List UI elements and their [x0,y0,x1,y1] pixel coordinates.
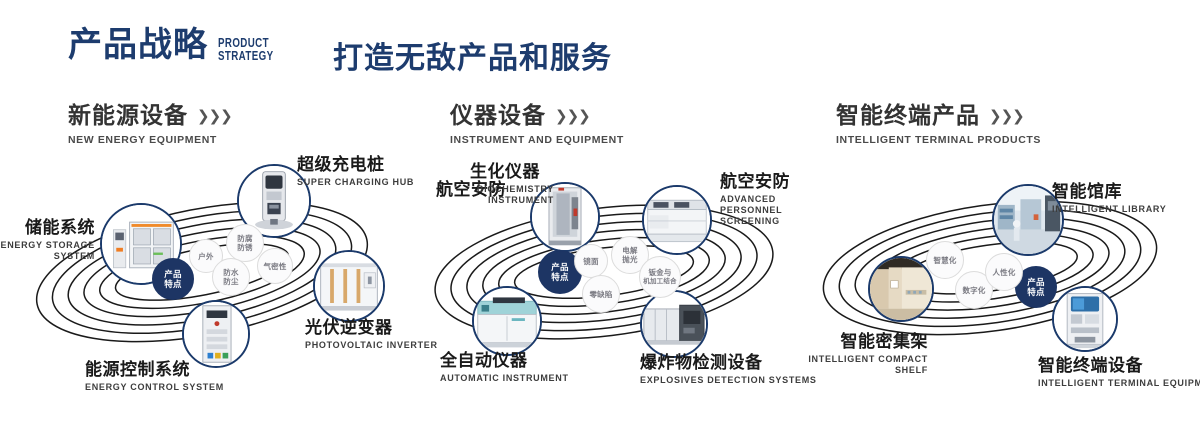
feature-bubble-zero-defect[interactable]: 零缺陷 [582,275,620,313]
feature-bubble-mirror[interactable]: 镜面 [574,244,608,278]
compact-shelf-icon [870,258,932,320]
label-intelligent-compact-shelf: 智能密集架 INTELLIGENT COMPACT SHELF [800,332,928,376]
bubble-line2: 特点 [164,279,181,289]
node-advanced-personnel-screening[interactable] [642,185,712,255]
bubble-line1: 产品 [551,262,568,272]
label-en: PHOTOVOLTAIC INVERTER [305,340,438,351]
node-automatic-instrument[interactable] [472,286,542,356]
label-cn: 智能密集架 [800,332,928,352]
label-advanced-personnel-screening: 航空安防 ADVANCED PERSONNEL SCREENING [720,172,816,227]
label-en: INTELLIGENT LIBRARY [1052,204,1166,215]
node-photovoltaic-inverter[interactable] [313,250,385,322]
label-intelligent-library: 智能馆库 INTELLIGENT LIBRARY [1052,182,1166,215]
label-cn: 储能系统 [0,218,95,238]
pv-inverter-cabinet-icon [315,252,383,320]
label-en: INTELLIGENT COMPACT SHELF [800,354,928,376]
label-cn: 能源控制系统 [85,360,224,380]
label-cn: 全自动仪器 [440,351,569,371]
bubble-line1: 户外 [198,252,213,261]
automatic-analyzer-icon [474,288,540,354]
feature-bubble-waterproof[interactable]: 防水防尘 [212,258,250,296]
label-en: SUPER CHARGING HUB [297,177,414,188]
label-cn: 光伏逆变器 [305,318,438,338]
bubble-line1: 数字化 [962,286,985,295]
label-en: EXPLOSIVES DETECTION SYSTEMS [640,375,817,386]
label-en: BIOCHEMISTRY INSTRUMENT [466,184,554,206]
feature-bubble-sheetmetal-machining[interactable]: 钣金与机加工结合 [639,256,681,298]
label-photovoltaic-inverter: 光伏逆变器 PHOTOVOLTAIC INVERTER [305,318,438,351]
label-en: ADVANCED PERSONNEL SCREENING [720,194,816,227]
bubble-line1: 防水 [223,268,238,277]
bubble-line1: 智慧化 [933,256,956,265]
label-cn: 超级充电桩 [297,155,414,175]
bubble-line1: 产品 [1027,277,1044,287]
label-cn: 航空安防 [720,172,816,192]
screening-machine-icon [644,187,710,253]
bubble-line1: 气密性 [263,262,286,271]
label-biochemistry-instrument: 生化仪器 BIOCHEMISTRY INSTRUMENT [470,162,554,206]
feature-bubble-intelligent[interactable]: 智慧化 [926,241,964,279]
product-strategy-infographic: 产品战略 PRODUCT STRATEGY 打造无敌产品和服务 新能源设备❯❯❯… [0,0,1200,422]
feature-bubble-airtight[interactable]: 气密性 [257,248,293,284]
bubble-line2: 特点 [551,272,568,282]
label-en: INTELLIGENT TERMINAL EQUIPMENT [1038,378,1200,389]
bubble-line1: 钣金与 [643,268,677,277]
bubble-line2: 机加工结合 [643,277,677,286]
bubble-line1: 防腐 [237,234,252,243]
bubble-line2: 防锈 [237,243,252,252]
label-en: AUTOMATIC INSTRUMENT [440,373,569,384]
label-intelligent-terminal-equipment: 智能终端设备 INTELLIGENT TERMINAL EQUIPMENT [1038,356,1200,389]
label-super-charging-hub: 超级充电桩 SUPER CHARGING HUB [297,155,414,188]
self-service-kiosk-icon [1054,288,1116,350]
label-cn: 生化仪器 [470,162,554,182]
label-en: ENERGY STORAGE SYSTEM [0,240,95,262]
control-cabinet-icon [184,302,248,366]
feature-bubble-humanized[interactable]: 人性化 [985,253,1023,291]
node-intelligent-compact-shelf[interactable] [868,256,934,322]
node-intelligent-terminal-equipment[interactable] [1052,286,1118,352]
bubble-line2: 防尘 [223,277,238,286]
label-energy-control-system: 能源控制系统 ENERGY CONTROL SYSTEM [85,360,224,393]
explosive-detector-icon [642,292,706,356]
node-explosives-detection-systems[interactable] [640,290,708,358]
label-cn: 智能终端设备 [1038,356,1200,376]
feature-bubble-main[interactable]: 产品特点 [152,258,194,300]
label-energy-storage-system: 储能系统 ENERGY STORAGE SYSTEM [0,218,95,262]
label-explosives-detection-systems: 爆炸物检测设备 EXPLOSIVES DETECTION SYSTEMS [640,353,817,386]
bubble-line1: 人性化 [992,268,1015,277]
bubble-line2: 特点 [1027,287,1044,297]
bubble-line2: 抛光 [622,255,637,264]
label-en: ENERGY CONTROL SYSTEM [85,382,224,393]
label-cn: 爆炸物检测设备 [640,353,817,373]
node-energy-control-system[interactable] [182,300,250,368]
label-automatic-instrument: 全自动仪器 AUTOMATIC INSTRUMENT [440,351,569,384]
bubble-line1: 镜面 [583,257,598,266]
bubble-line1: 产品 [164,269,181,279]
bubble-line1: 零缺陷 [589,290,612,299]
bubble-line1: 电解 [622,246,637,255]
label-cn: 智能馆库 [1052,182,1166,202]
